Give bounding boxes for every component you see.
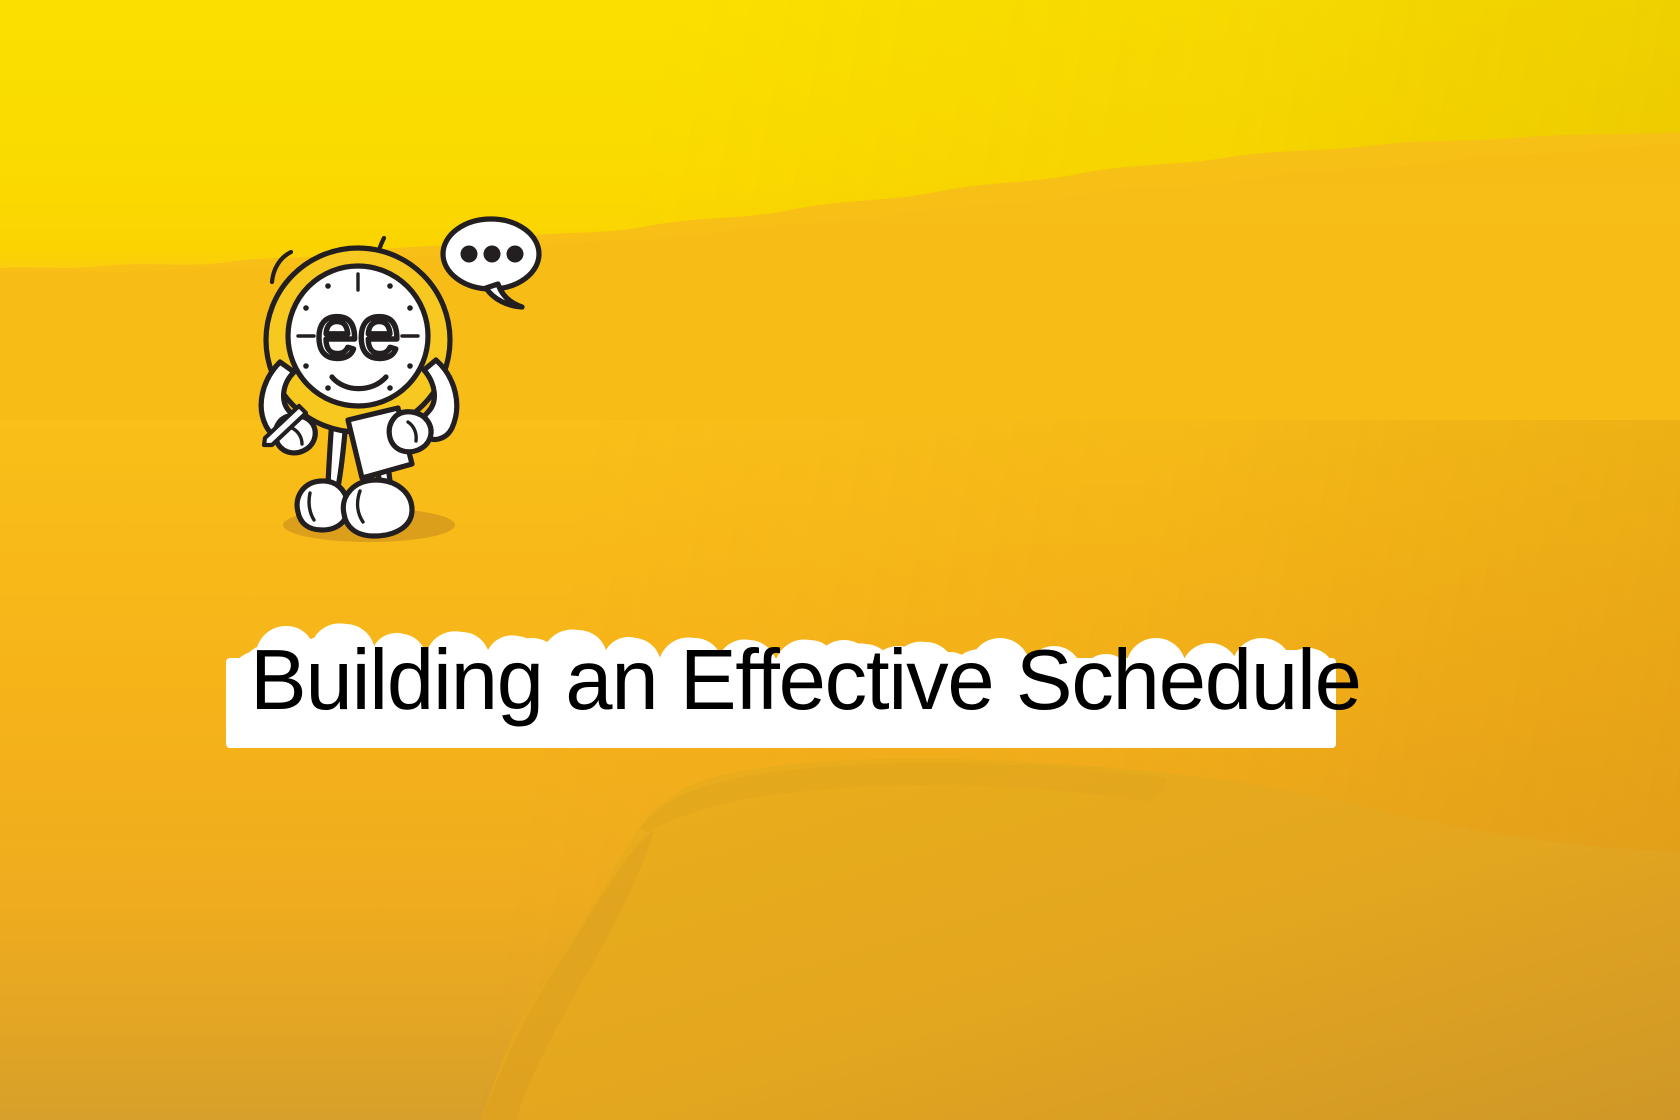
clock-dot-1 xyxy=(387,283,393,289)
slide-canvas: .ol { fill:none; stroke:#231F20; stroke-… xyxy=(0,0,1680,1120)
svg-text:ee: ee xyxy=(316,290,401,375)
clock-dot-11 xyxy=(325,283,331,289)
clock-dot-10 xyxy=(303,305,309,311)
clock-mascot: .ol { fill:none; stroke:#231F20; stroke-… xyxy=(236,212,566,557)
speech-bubble xyxy=(443,219,539,307)
clock-dot-5 xyxy=(387,385,393,391)
page-title: Building an Effective Schedule xyxy=(226,612,1336,748)
clock-dot-8 xyxy=(303,363,309,369)
shoe-right xyxy=(343,480,412,536)
shoe-left xyxy=(297,481,348,530)
mascot-eyes: ee xyxy=(316,290,401,375)
clock-dot-2 xyxy=(407,305,413,311)
title-block: Building an Effective Schedule xyxy=(226,612,1336,748)
speech-dot-2 xyxy=(484,246,501,263)
clock-dot-7 xyxy=(325,385,331,391)
speech-dot-3 xyxy=(507,246,524,263)
clock-dot-4 xyxy=(407,363,413,369)
hand-right xyxy=(389,412,431,452)
speech-dot-1 xyxy=(461,246,478,263)
